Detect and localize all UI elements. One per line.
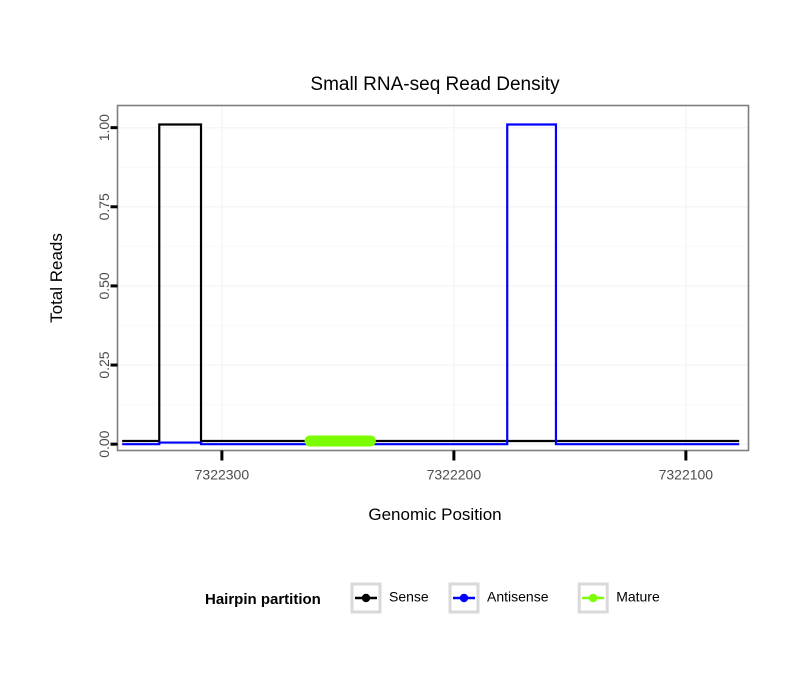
legend-item-label: Antisense <box>487 589 549 605</box>
chart-title: Small RNA-seq Read Density <box>310 74 560 95</box>
legend-key-point <box>362 594 370 602</box>
legend-item-label: Sense <box>389 589 429 605</box>
x-axis-title: Genomic Position <box>368 505 501 524</box>
y-tick-label: 1.00 <box>96 114 112 141</box>
y-tick-label: 0.75 <box>96 193 112 220</box>
x-tick-label: 7322300 <box>195 467 250 483</box>
panel-background <box>118 106 749 451</box>
x-tick-label: 7322200 <box>427 467 482 483</box>
legend-item-label: Mature <box>616 589 660 605</box>
plot-panel <box>118 106 749 451</box>
y-tick-label: 0.50 <box>96 272 112 299</box>
legend-key-point <box>460 594 468 602</box>
y-axis-title: Total Reads <box>47 233 66 323</box>
y-tick-label: 0.00 <box>96 430 112 457</box>
y-tick-label: 0.25 <box>96 351 112 378</box>
legend-key-point <box>589 594 597 602</box>
chart-figure: Small RNA-seq Read Density 0.000.250.500… <box>0 0 810 690</box>
x-tick-label: 7322100 <box>659 467 714 483</box>
legend-title: Hairpin partition <box>205 591 321 608</box>
